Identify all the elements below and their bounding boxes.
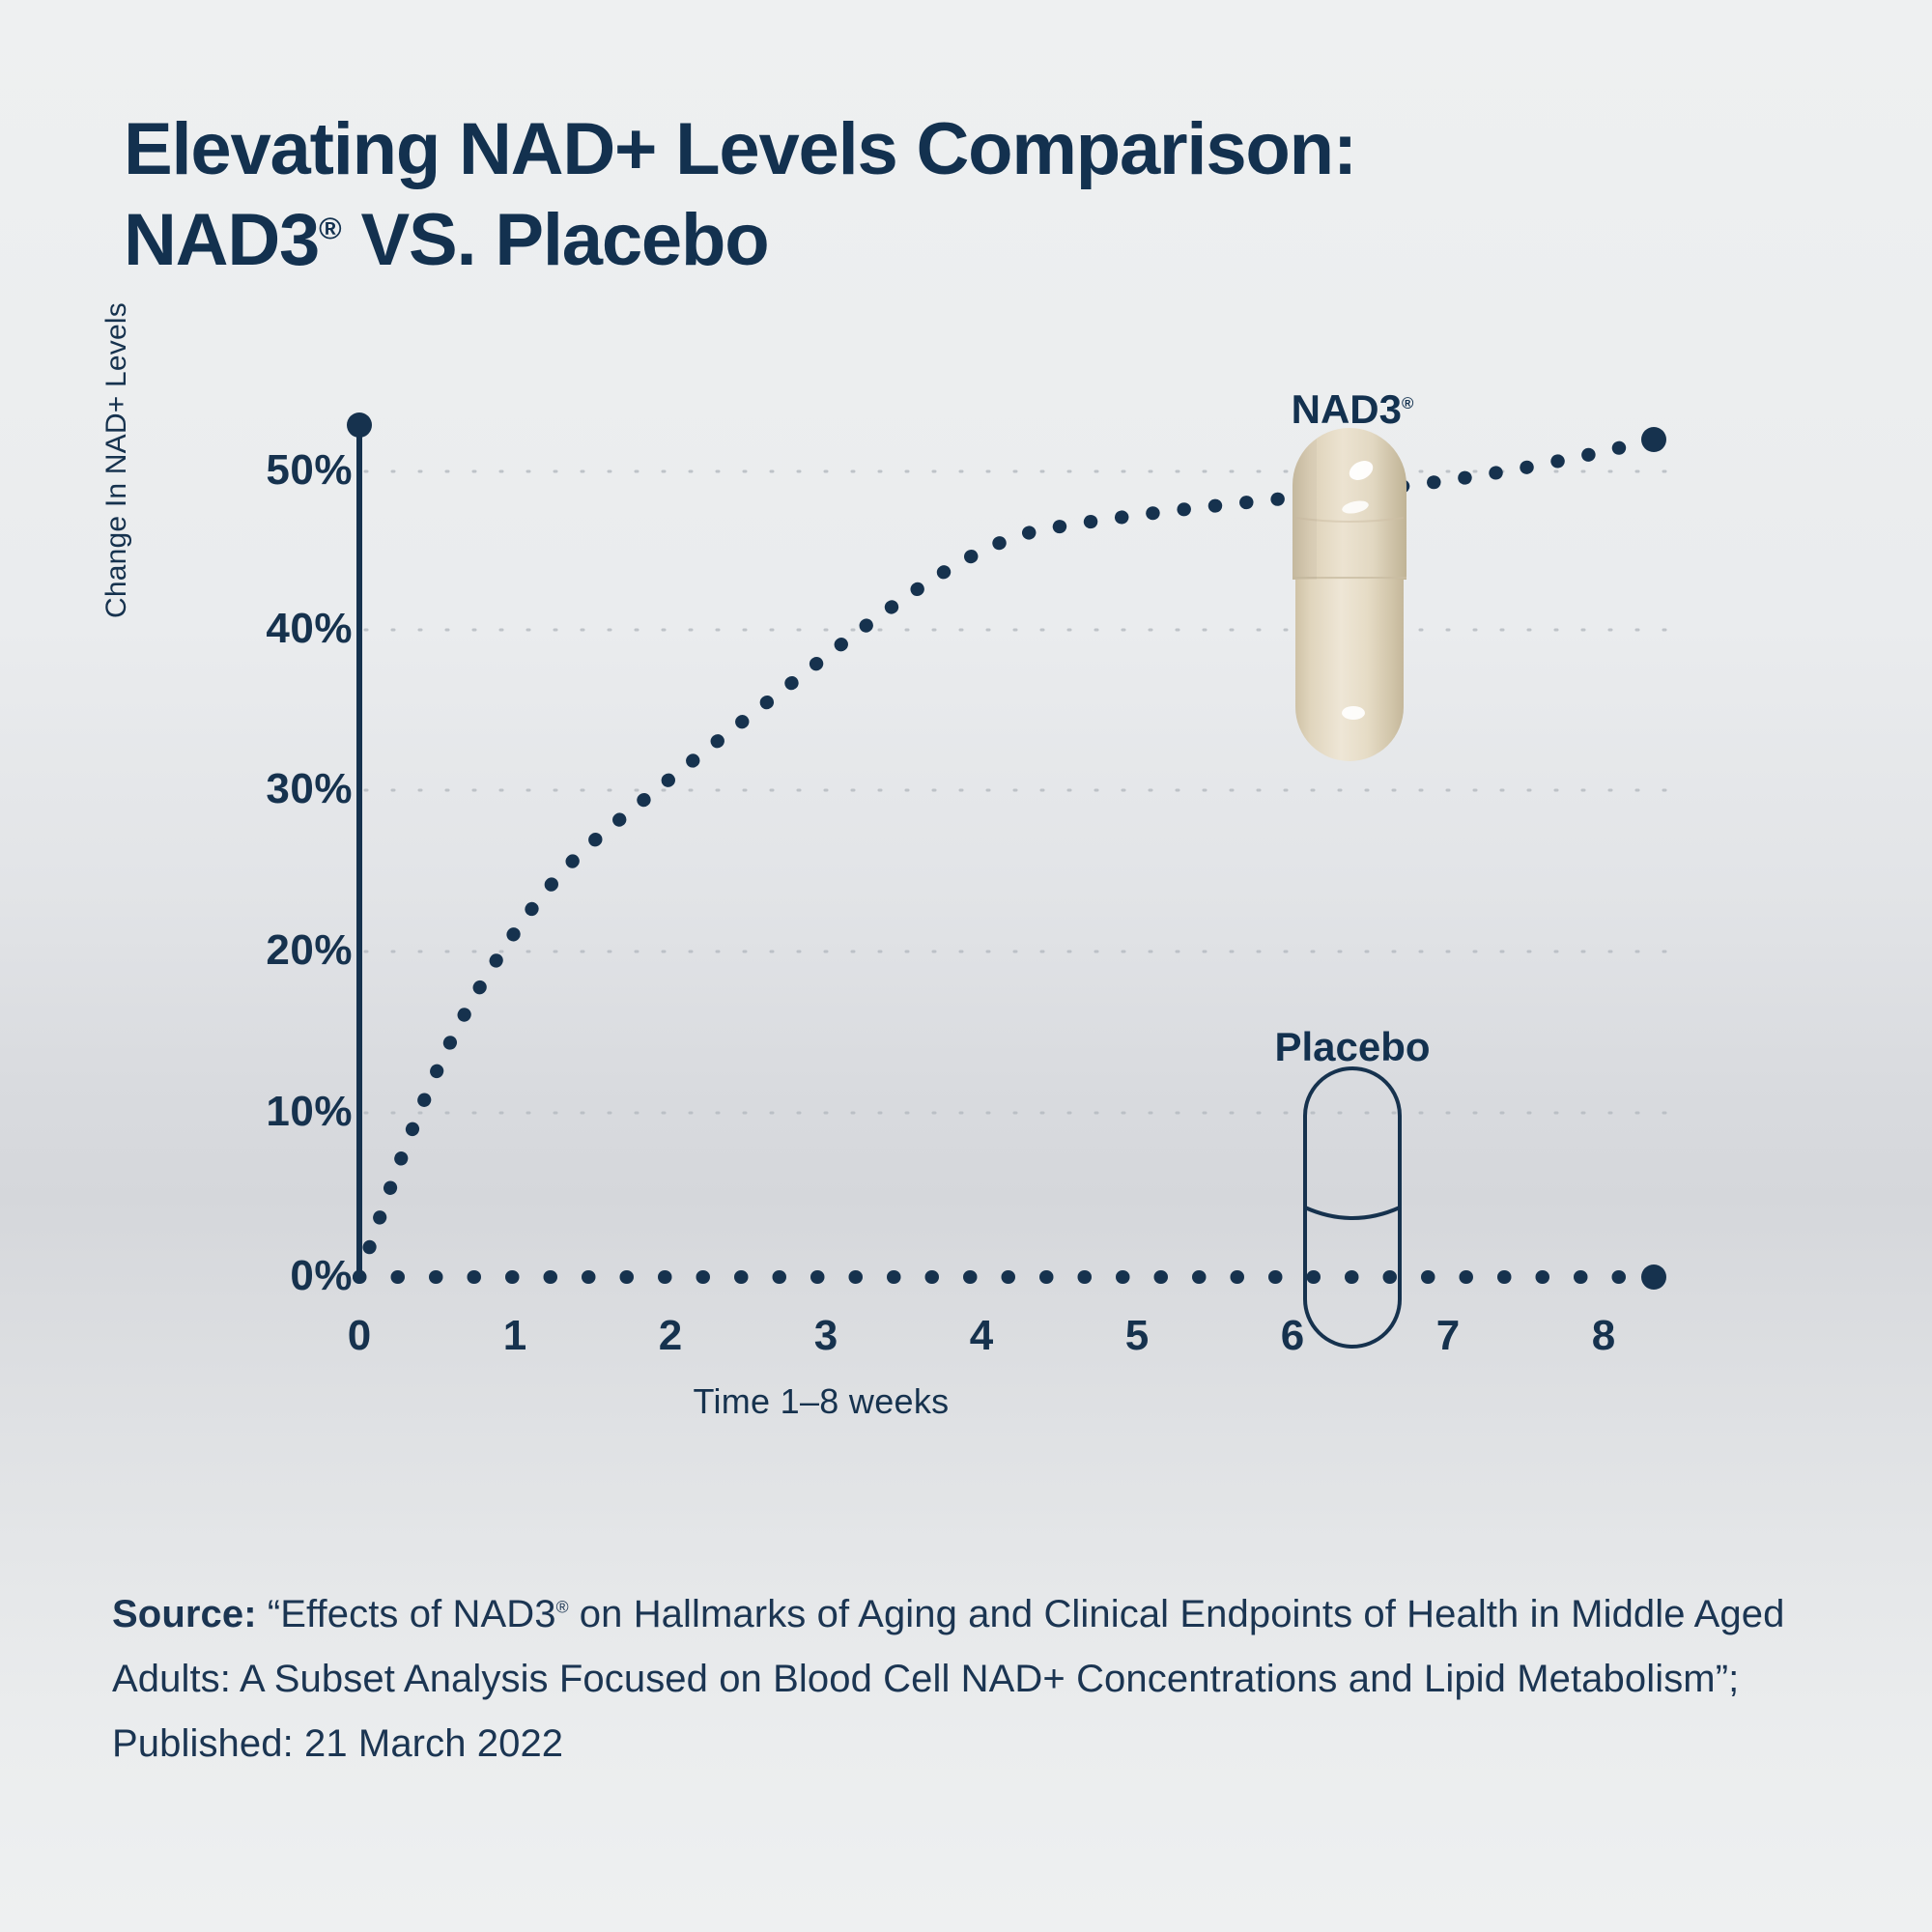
- nad3-capsule-icon: [1288, 425, 1411, 763]
- source-label: Source:: [112, 1593, 257, 1635]
- x-tick-3: 3: [797, 1312, 855, 1360]
- gridlines: [365, 471, 1690, 1113]
- source-note: Source: “Effects of NAD3® on Hallmarks o…: [112, 1582, 1851, 1776]
- x-tick-5: 5: [1108, 1312, 1166, 1360]
- series-placebo: [359, 1264, 1666, 1290]
- x-tick-1: 1: [486, 1312, 544, 1360]
- x-tick-8: 8: [1575, 1312, 1633, 1360]
- x-tick-7: 7: [1419, 1312, 1477, 1360]
- x-tick-4: 4: [952, 1312, 1010, 1360]
- y-tick-50: 50%: [208, 446, 353, 495]
- registered-mark-icon: ®: [556, 1598, 569, 1617]
- y-tick-40: 40%: [208, 605, 353, 653]
- y-tick-20: 20%: [208, 926, 353, 975]
- line-chart: 50% 40% 30% 20% 10% 0% Change In NAD+ Le…: [0, 0, 1932, 1507]
- y-axis: [347, 412, 372, 1277]
- chart-page: Elevating NAD+ Levels Comparison: NAD3® …: [0, 0, 1932, 1932]
- y-axis-cap-dot: [347, 412, 372, 438]
- x-axis-title: Time 1–8 weeks: [290, 1381, 1352, 1422]
- x-tick-2: 2: [641, 1312, 699, 1360]
- placebo-capsule-icon: [1299, 1063, 1406, 1352]
- registered-mark-icon: ®: [1402, 394, 1413, 412]
- y-axis-title: Change In NAD+ Levels: [100, 290, 133, 618]
- series-nad3: [359, 427, 1666, 1277]
- placebo-end-marker: [1641, 1264, 1666, 1290]
- y-tick-0: 0%: [208, 1252, 353, 1300]
- x-tick-0: 0: [330, 1312, 388, 1360]
- y-tick-10: 10%: [208, 1088, 353, 1136]
- y-tick-30: 30%: [208, 765, 353, 813]
- nad3-end-marker: [1641, 427, 1666, 452]
- source-text-a: “Effects of NAD3: [257, 1593, 556, 1635]
